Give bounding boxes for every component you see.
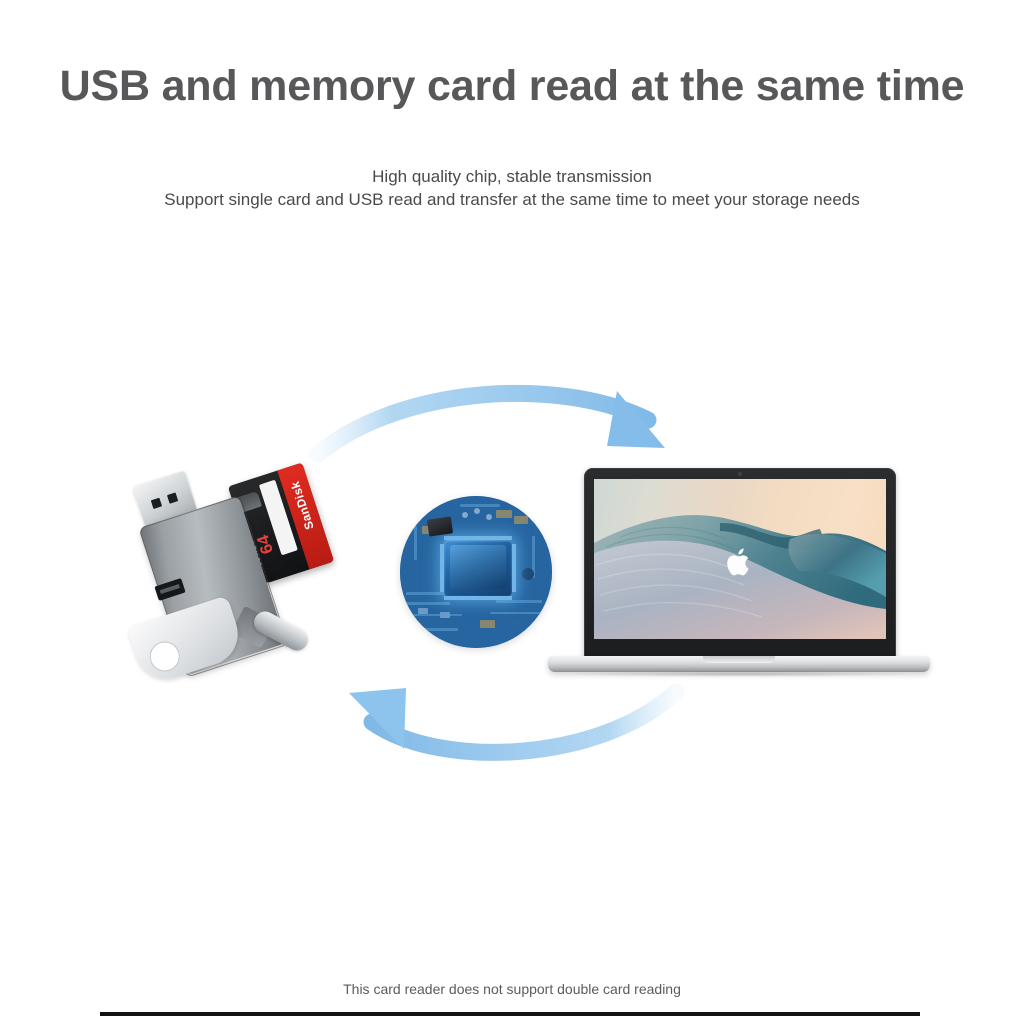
product-illustration: SanDisk 64 U3 XC I [0, 370, 1024, 790]
page-title: USB and memory card read at the same tim… [0, 62, 1024, 111]
laptop-base-notch [703, 656, 775, 663]
laptop-lid-frame [584, 468, 896, 660]
footer-divider [100, 1012, 920, 1016]
arrow-top-icon [318, 391, 665, 454]
subtitle-block: High quality chip, stable transmission S… [0, 166, 1024, 211]
subtitle-line-1: High quality chip, stable transmission [0, 166, 1024, 188]
card-reader-device: SanDisk 64 U3 XC I [132, 470, 377, 710]
processor-chip [444, 540, 512, 596]
arrow-bottom-icon [349, 688, 676, 752]
small-ic-package [427, 516, 453, 536]
subtitle-line-2: Support single card and USB read and tra… [0, 188, 1024, 211]
laptop-illustration [548, 468, 930, 683]
footer-disclaimer: This card reader does not support double… [0, 981, 1024, 997]
laptop-shadow [562, 671, 916, 677]
keyring-tab [127, 595, 246, 686]
chip-circle-badge [400, 496, 552, 648]
